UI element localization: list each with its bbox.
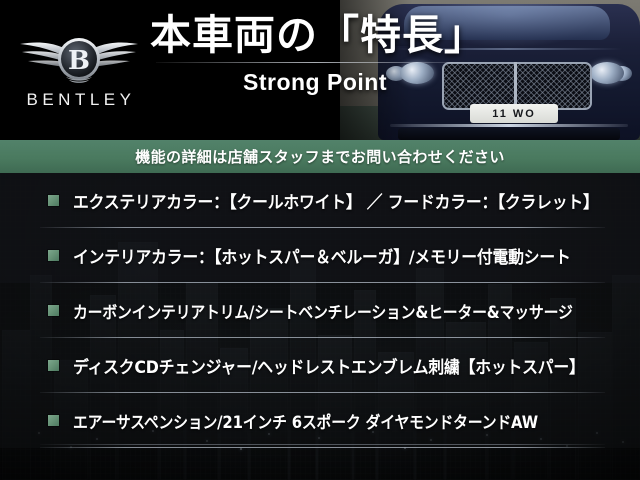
svg-text:B: B xyxy=(68,46,90,76)
list-item: ディスクCDチェンジャー/ヘッドレストエンブレム刺繍【ホットスパー】 xyxy=(0,338,640,393)
header-banner: 11 WO xyxy=(0,0,640,140)
title-divider xyxy=(156,62,474,63)
bullet-square-icon xyxy=(48,415,59,426)
bentley-logo: B BENTLEY xyxy=(14,30,144,112)
list-item-label: エクステリアカラー：【クールホワイト】 ／ フードカラー：【クラレット】 xyxy=(73,188,599,213)
list-item: カーボンインテリアトリム/シートベンチレーション&ヒーター&マッサージ xyxy=(0,283,640,338)
feature-highlight-page: 11 WO xyxy=(0,0,640,480)
bentley-winged-b-icon: B xyxy=(14,30,144,88)
list-item: インテリアカラー：【ホットスパー＆ベルーガ】/メモリー付電動シート xyxy=(0,228,640,283)
list-item-label: エアーサスペンション/21インチ 6スポーク ダイヤモンドターンドAW xyxy=(73,409,538,433)
license-plate-text: 11 WO xyxy=(492,108,536,120)
feature-list: エクステリアカラー：【クールホワイト】 ／ フードカラー：【クラレット】 インテ… xyxy=(0,173,640,458)
bullet-square-icon xyxy=(48,250,59,261)
bullet-square-icon xyxy=(48,195,59,206)
list-item: エアーサスペンション/21インチ 6スポーク ダイヤモンドターンドAW xyxy=(0,393,640,448)
list-item-label: カーボンインテリアトリム/シートベンチレーション&ヒーター&マッサージ xyxy=(73,299,573,323)
header-text-block: 本車両の「特長」 Strong Point xyxy=(150,14,480,96)
bullet-square-icon xyxy=(48,305,59,316)
page-subtitle: Strong Point xyxy=(150,69,480,96)
contact-banner: 機能の詳細は店舗スタッフまでお問い合わせください xyxy=(0,140,640,173)
bentley-wordmark: BENTLEY xyxy=(14,90,144,110)
page-title: 本車両の「特長」 xyxy=(150,14,480,57)
bullet-square-icon xyxy=(48,360,59,371)
list-item: エクステリアカラー：【クールホワイト】 ／ フードカラー：【クラレット】 xyxy=(0,173,640,228)
list-item-label: インテリアカラー：【ホットスパー＆ベルーガ】/メモリー付電動シート xyxy=(73,243,571,268)
license-plate: 11 WO xyxy=(470,104,558,123)
list-item-label: ディスクCDチェンジャー/ヘッドレストエンブレム刺繍【ホットスパー】 xyxy=(73,353,585,378)
contact-banner-text: 機能の詳細は店舗スタッフまでお問い合わせください xyxy=(135,146,505,167)
list-divider xyxy=(40,447,605,448)
